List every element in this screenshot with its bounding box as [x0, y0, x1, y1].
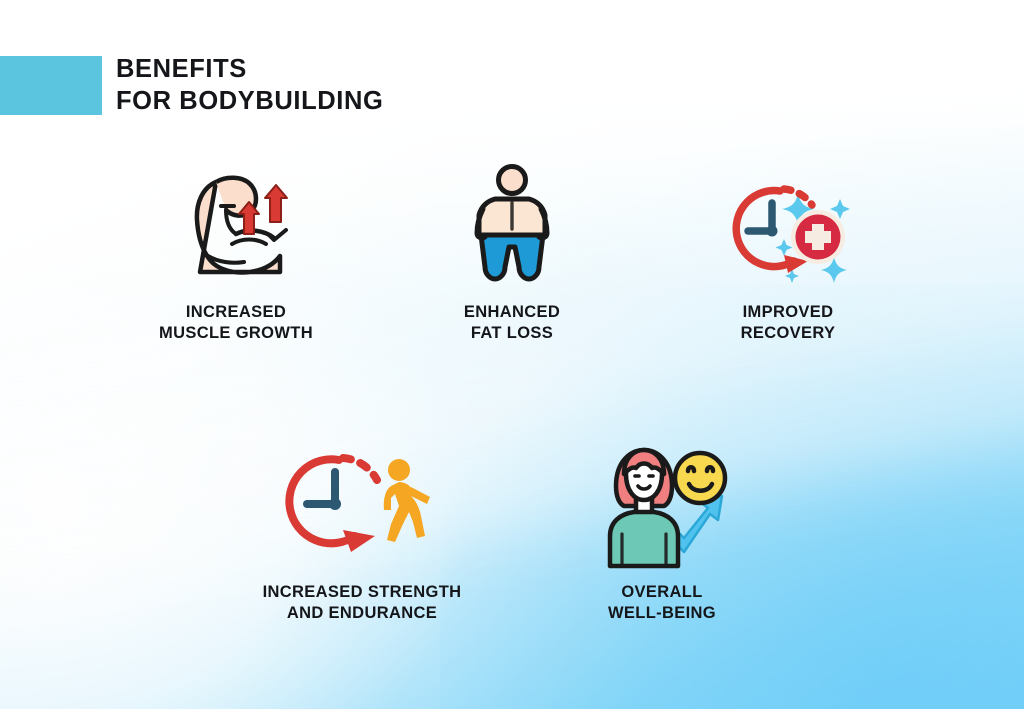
header-accent-block: [0, 56, 102, 115]
benefit-label: INCREASED STRENGTH AND ENDURANCE: [263, 582, 462, 624]
benefit-label: ENHANCED FAT LOSS: [464, 302, 560, 344]
infographic-poster: BENEFITS FOR BODYBUILDING: [0, 0, 1024, 709]
title-line-1: BENEFITS: [116, 53, 383, 85]
benefit-label: OVERALL WELL-BEING: [608, 582, 716, 624]
benefit-label: IMPROVED RECOVERY: [741, 302, 836, 344]
page-title: BENEFITS FOR BODYBUILDING: [116, 53, 383, 117]
benefits-row-top: INCREASED MUSCLE GROWTH: [0, 160, 1024, 344]
running-figure: [384, 459, 430, 542]
benefit-increased-strength-and-endurance: INCREASED STRENGTH AND ENDURANCE: [212, 440, 512, 624]
benefit-label: INCREASED MUSCLE GROWTH: [159, 302, 313, 344]
happy-person-smiley-arrow-icon: [596, 440, 728, 568]
benefit-increased-muscle-growth: INCREASED MUSCLE GROWTH: [98, 160, 374, 344]
benefit-overall-well-being: OVERALL WELL-BEING: [512, 440, 812, 624]
clock-medical-cross-icon: [722, 160, 854, 288]
flexed-bicep-icon: [170, 160, 302, 288]
weight-loss-person-icon: [446, 160, 578, 288]
clock-running-person-icon: [296, 440, 428, 568]
benefit-enhanced-fat-loss: ENHANCED FAT LOSS: [374, 160, 650, 344]
benefit-improved-recovery: IMPROVED RECOVERY: [650, 160, 926, 344]
title-line-2: FOR BODYBUILDING: [116, 85, 383, 117]
benefits-row-bottom: INCREASED STRENGTH AND ENDURANCE: [0, 440, 1024, 624]
poster-header: BENEFITS FOR BODYBUILDING: [0, 56, 383, 117]
